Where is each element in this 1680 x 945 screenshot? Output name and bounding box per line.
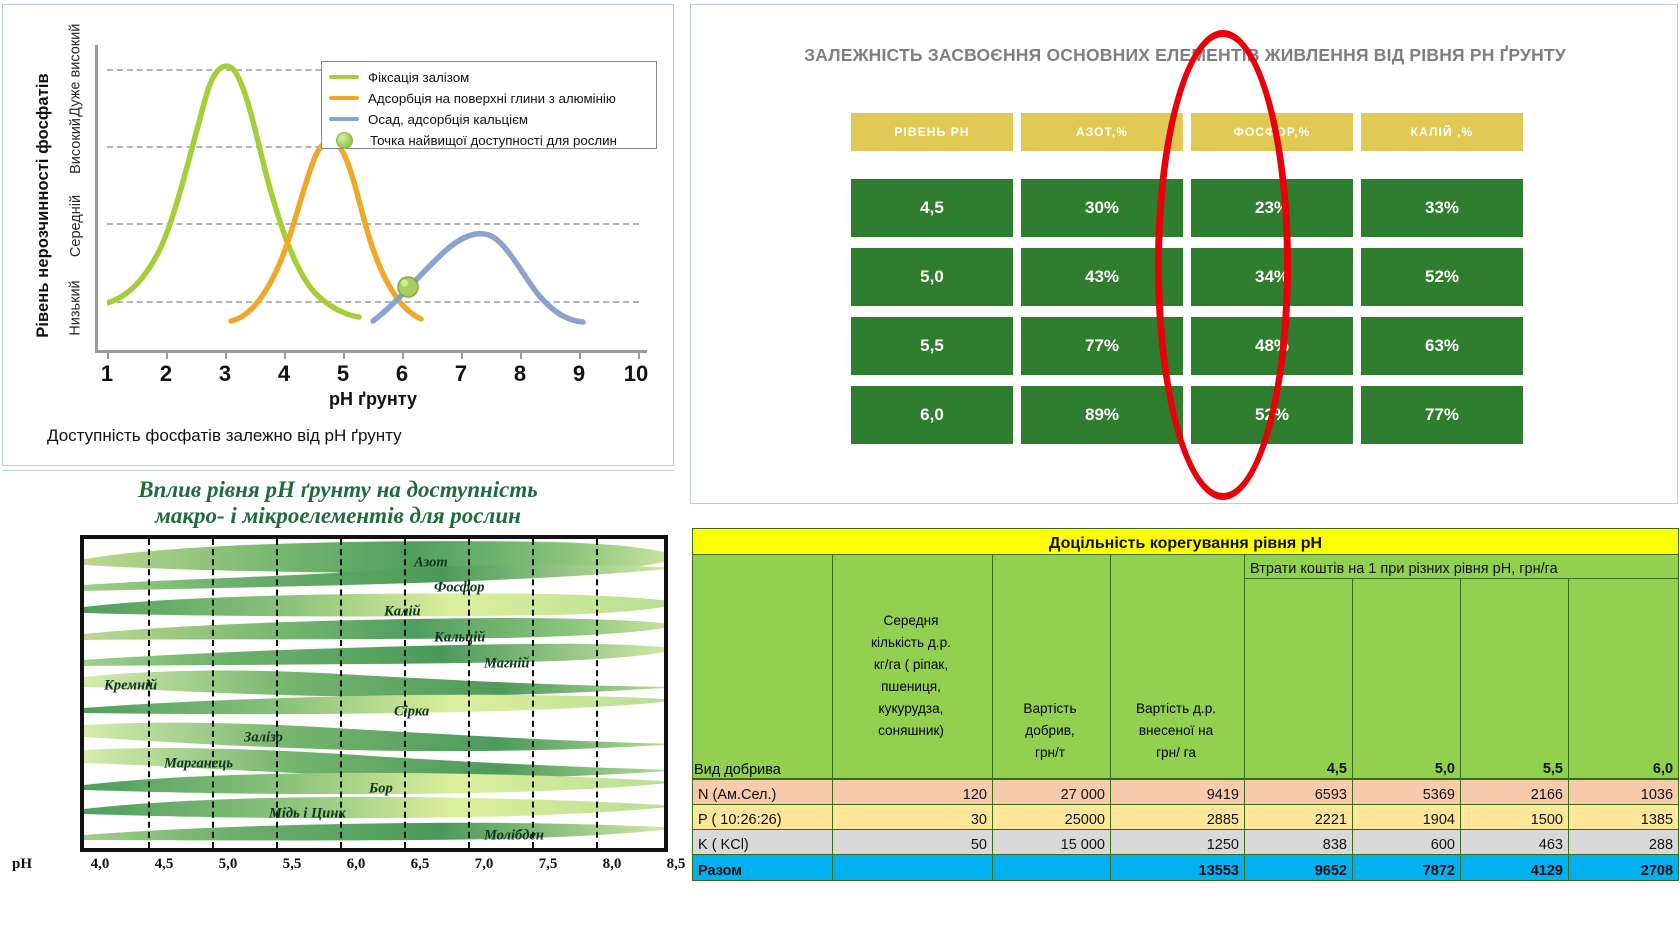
- npk-header-phosphorus: ФОСФОР,%: [1191, 113, 1353, 151]
- npk-cell-phosphorus: 23%: [1191, 179, 1353, 237]
- npk-cell-ph: 6,0: [851, 386, 1013, 444]
- hdr-line: Середня: [834, 610, 988, 632]
- npk-cell-ph: 4,5: [851, 179, 1013, 237]
- legend-label: Осад, адсорбція кальцієм: [368, 112, 528, 127]
- band-label-boron: Бор: [369, 781, 393, 798]
- total-loss-6-0: 2708: [1569, 855, 1679, 881]
- npk-header-potassium: КАЛІЙ ,%: [1361, 113, 1523, 151]
- row-cost: 1250: [1111, 830, 1245, 855]
- bands-tick-5-0: 5,0: [205, 856, 251, 873]
- bands-tick-6-5: 6,5: [397, 856, 443, 873]
- total-amount: [833, 855, 993, 881]
- phosphate-chart-legend: Фіксація залізом Адсорбція на поверхні г…: [321, 61, 657, 149]
- legend-swatch-line-icon: [329, 96, 359, 100]
- x-tick-3: 3: [208, 361, 242, 387]
- row-loss-5-5: 463: [1461, 830, 1569, 855]
- legend-swatch-line-icon: [329, 117, 359, 121]
- npk-row: 5,0 43% 34% 52%: [851, 248, 1523, 306]
- row-loss-6-0: 288: [1569, 830, 1679, 855]
- ph-header-5-0: 5,0: [1353, 579, 1461, 779]
- availability-bands-svg: [82, 537, 668, 852]
- row-loss-5-5: 1500: [1461, 805, 1569, 830]
- band-label-nitrogen: Азот: [414, 555, 448, 572]
- row-amount: 30: [833, 805, 993, 830]
- x-tick-1: 1: [90, 361, 124, 387]
- bands-x-axis: 4,0 4,5 5,0 5,5 6,0 6,5 7,0 7,5 8,0 8,5: [80, 856, 680, 882]
- npk-cell-nitrogen: 89%: [1021, 386, 1183, 444]
- hdr-line: внесеної на: [1112, 720, 1240, 742]
- phosphate-chart-caption: Доступність фосфатів залежно від pH ґрун…: [47, 426, 402, 446]
- ph-header-6-0: 6,0: [1569, 579, 1679, 779]
- x-tick-9: 9: [562, 361, 596, 387]
- bands-title-line-1: Вплив рівня pH ґрунту на доступність: [2, 477, 674, 503]
- hdr-line: грн/т: [994, 742, 1106, 764]
- row-name: K ( KCl): [693, 830, 833, 855]
- hdr-line: кількість д.р.: [834, 632, 988, 654]
- x-tick-6: 6: [385, 361, 419, 387]
- table-row: P ( 10:26:26) 30 25000 2885 2221 1904 15…: [693, 805, 1679, 830]
- highest-availability-marker: [398, 277, 418, 297]
- table-row: N (Ам.Сел.) 120 27 000 9419 6593 5369 21…: [693, 780, 1679, 805]
- row-cost: 9419: [1111, 780, 1245, 805]
- bands-plot-area: Азот Фосфор Калій Кальцій Магній Кремній…: [80, 535, 668, 852]
- band-label-sulfur: Сірка: [394, 704, 429, 721]
- x-tick-8: 8: [503, 361, 537, 387]
- npk-cell-potassium: 77%: [1361, 386, 1523, 444]
- table-total-row: Разом 13553 9652 7872 4129 2708: [693, 855, 1679, 881]
- table-row: K ( KCl) 50 15 000 1250 838 600 463 288: [693, 830, 1679, 855]
- hdr-line: Вартість д.р.: [1112, 698, 1240, 720]
- losses-group-header: Втрати коштів на 1 при різних рівня pH, …: [1245, 555, 1679, 579]
- x-axis-title: pH ґрунту: [107, 389, 639, 410]
- total-name: Разом: [693, 855, 833, 881]
- legend-item-highest-availability: Точка найвищої доступності для рослин: [329, 130, 649, 150]
- y-category-very-high: Дуже високий: [63, 25, 89, 115]
- band-label-manganese: Марганець: [164, 756, 233, 773]
- bands-axis-prefix-label: pH: [12, 856, 32, 873]
- npk-table-grid: РІВЕНЬ PH АЗОТ,% ФОСФОР,% КАЛІЙ ,% 4,5 3…: [851, 113, 1523, 455]
- npk-cell-potassium: 63%: [1361, 317, 1523, 375]
- legend-circle-marker-icon: [336, 132, 353, 149]
- row-price: 25000: [993, 805, 1111, 830]
- cost-correction-panel: Доцільність корегування рівня pH Втрати …: [690, 522, 1680, 945]
- npk-cell-phosphorus: 34%: [1191, 248, 1353, 306]
- npk-header-ph-level: РІВЕНЬ PH: [851, 113, 1013, 151]
- npk-cell-nitrogen: 30%: [1021, 179, 1183, 237]
- x-tick-2: 2: [149, 361, 183, 387]
- ph-header-5-5: 5,5: [1461, 579, 1569, 779]
- npk-uptake-panel: ЗАЛЕЖНІСТЬ ЗАСВОЄННЯ ОСНОВНИХ ЕЛЕМЕНТІВ …: [690, 4, 1678, 504]
- row-amount: 50: [833, 830, 993, 855]
- ph-header-4-5: 4,5: [1245, 579, 1353, 779]
- legend-label: Точка найвищої доступності для рослин: [370, 133, 617, 148]
- cost-col-header-average-amount: Середня кількість д.р. кг/га ( ріпак, пш…: [834, 610, 988, 742]
- band-label-calcium: Кальцій: [434, 630, 485, 647]
- legend-label: Адсорбція на поверхні глини з алюмінію: [368, 91, 616, 106]
- bands-tick-5-5: 5,5: [269, 856, 315, 873]
- hdr-line: грн/ га: [1112, 742, 1240, 764]
- row-amount: 120: [833, 780, 993, 805]
- bands-tick-8-0: 8,0: [589, 856, 635, 873]
- total-loss-5-0: 7872: [1353, 855, 1461, 881]
- bands-tick-6-0: 6,0: [333, 856, 379, 873]
- npk-cell-phosphorus: 48%: [1191, 317, 1353, 375]
- hdr-line: соняшник): [834, 720, 988, 742]
- npk-cell-potassium: 52%: [1361, 248, 1523, 306]
- cost-col-header-fertilizer-type: Вид добрива: [694, 762, 832, 778]
- bands-title-line-2: макро- і мікроелементів для рослин: [2, 503, 674, 529]
- row-loss-4-5: 2221: [1245, 805, 1353, 830]
- row-price: 15 000: [993, 830, 1111, 855]
- phosphate-chart-y-axis-title: Рівень нерозчинності фосфатів: [29, 45, 57, 365]
- row-price: 27 000: [993, 780, 1111, 805]
- cost-table-title-row: Доцільність корегування рівня pH: [693, 529, 1679, 555]
- total-cost: 13553: [1111, 855, 1245, 881]
- band-label-potassium: Калій: [384, 604, 421, 621]
- row-loss-4-5: 838: [1245, 830, 1353, 855]
- slide-canvas: Рівень нерозчинності фосфатів Низький Се…: [0, 0, 1680, 945]
- x-tick-7: 7: [444, 361, 478, 387]
- y-category-low: Низький: [63, 263, 89, 353]
- npk-header-row: РІВЕНЬ PH АЗОТ,% ФОСФОР,% КАЛІЙ ,%: [851, 113, 1523, 151]
- cost-col-header-fertilizer-price: Вартість добрив, грн/т: [994, 698, 1106, 764]
- legend-item-aluminium-adsorption: Адсорбція на поверхні глини з алюмінію: [329, 88, 649, 108]
- element-availability-chart-panel: Вплив рівня pH ґрунту на доступність мак…: [2, 470, 674, 943]
- total-price: [993, 855, 1111, 881]
- npk-cell-potassium: 33%: [1361, 179, 1523, 237]
- row-loss-5-0: 5369: [1353, 780, 1461, 805]
- band-label-silicon: Кремній: [104, 678, 157, 695]
- row-loss-5-0: 600: [1353, 830, 1461, 855]
- row-loss-4-5: 6593: [1245, 780, 1353, 805]
- bands-tick-4-5: 4,5: [141, 856, 187, 873]
- band-label-phosphorus: Фосфор: [434, 580, 485, 597]
- phosphate-availability-chart-panel: Рівень нерозчинності фосфатів Низький Се…: [2, 4, 674, 466]
- hdr-line: кукурудза,: [834, 698, 988, 720]
- y-axis-title-text: Рівень нерозчинності фосфатів: [34, 73, 53, 338]
- legend-item-calcium-precipitation: Осад, адсорбція кальцієм: [329, 109, 649, 129]
- bands-tick-7-0: 7,0: [461, 856, 507, 873]
- row-loss-5-0: 1904: [1353, 805, 1461, 830]
- hdr-line: добрив,: [994, 720, 1106, 742]
- npk-row: 6,0 89% 52% 77%: [851, 386, 1523, 444]
- legend-item-iron-fixation: Фіксація залізом: [329, 67, 649, 87]
- row-loss-6-0: 1385: [1569, 805, 1679, 830]
- y-axis-line: [95, 45, 98, 353]
- npk-row: 4,5 30% 23% 33%: [851, 179, 1523, 237]
- npk-cell-nitrogen: 43%: [1021, 248, 1183, 306]
- hdr-line: кг/га ( ріпак,: [834, 654, 988, 676]
- cost-col-header-applied-cost: Вартість д.р. внесеної на грн/ га: [1112, 698, 1240, 764]
- npk-table-title: ЗАЛЕЖНІСТЬ ЗАСВОЄННЯ ОСНОВНИХ ЕЛЕМЕНТІВ …: [691, 45, 1679, 66]
- band-label-copper-zinc: Мідь і Цинк: [269, 806, 346, 823]
- npk-cell-ph: 5,5: [851, 317, 1013, 375]
- band-label-iron: Залізо: [244, 730, 283, 747]
- x-tick-4: 4: [267, 361, 301, 387]
- legend-label: Фіксація залізом: [368, 70, 469, 85]
- bands-tick-7-5: 7,5: [525, 856, 571, 873]
- x-tick-10: 10: [619, 361, 653, 387]
- total-loss-5-5: 4129: [1461, 855, 1569, 881]
- npk-cell-phosphorus: 52%: [1191, 386, 1353, 444]
- npk-row: 5,5 77% 48% 63%: [851, 317, 1523, 375]
- row-loss-5-5: 2166: [1461, 780, 1569, 805]
- npk-header-nitrogen: АЗОТ,%: [1021, 113, 1183, 151]
- bands-tick-4-0: 4,0: [77, 856, 123, 873]
- spacer-cell-1: [693, 555, 833, 779]
- row-cost: 2885: [1111, 805, 1245, 830]
- hdr-line: Вартість: [994, 698, 1106, 720]
- band-label-magnesium: Магній: [484, 656, 529, 673]
- bands-chart-title: Вплив рівня pH ґрунту на доступність мак…: [2, 477, 674, 529]
- cost-table-group-header-row: Втрати коштів на 1 при різних рівня pH, …: [693, 555, 1679, 579]
- x-tick-5: 5: [326, 361, 360, 387]
- cost-table-title: Доцільність корегування рівня pH: [693, 529, 1679, 555]
- row-name: N (Ам.Сел.): [693, 780, 833, 805]
- y-category-medium: Середній: [63, 181, 89, 271]
- hdr-line: пшениця,: [834, 676, 988, 698]
- legend-swatch-line-icon: [329, 75, 359, 79]
- npk-cell-nitrogen: 77%: [1021, 317, 1183, 375]
- total-loss-4-5: 9652: [1245, 855, 1353, 881]
- npk-cell-ph: 5,0: [851, 248, 1013, 306]
- band-label-molybdenum: Молібден: [484, 828, 544, 845]
- row-loss-6-0: 1036: [1569, 780, 1679, 805]
- row-name: P ( 10:26:26): [693, 805, 833, 830]
